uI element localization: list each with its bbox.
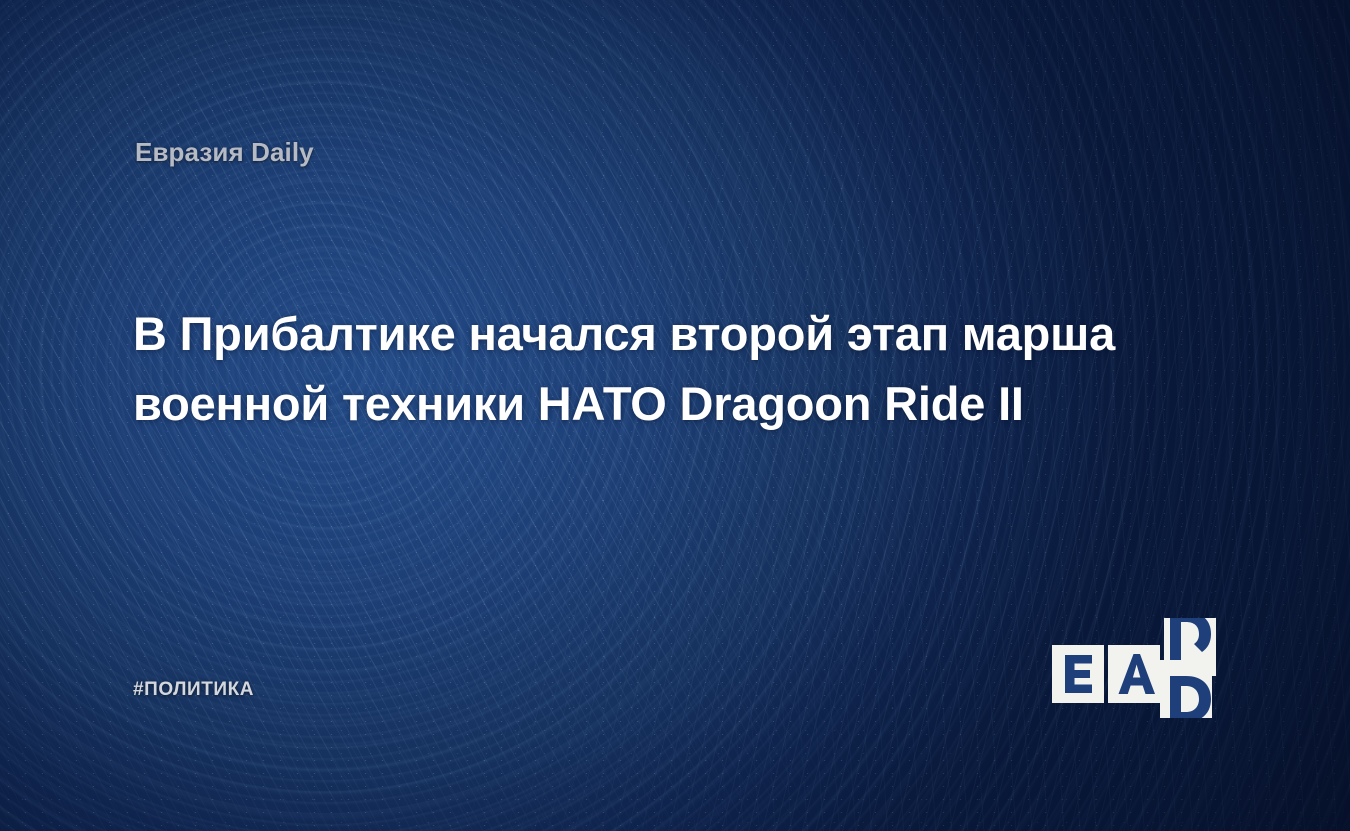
category-tag: #ПОЛИТИКА <box>133 679 254 701</box>
brand-name: Евразия Daily <box>135 137 314 168</box>
ead-logo <box>1052 618 1224 718</box>
news-share-card: Евразия Daily В Прибалтике начался второ… <box>0 0 1350 831</box>
card-content: Евразия Daily В Прибалтике начался второ… <box>0 0 1350 831</box>
logo-tile-d-bot <box>1160 660 1212 718</box>
logo-tile-a <box>1108 645 1160 703</box>
logo-tile-e <box>1052 645 1104 703</box>
page-title: В Прибалтике начался второй этап марша в… <box>133 299 1208 439</box>
